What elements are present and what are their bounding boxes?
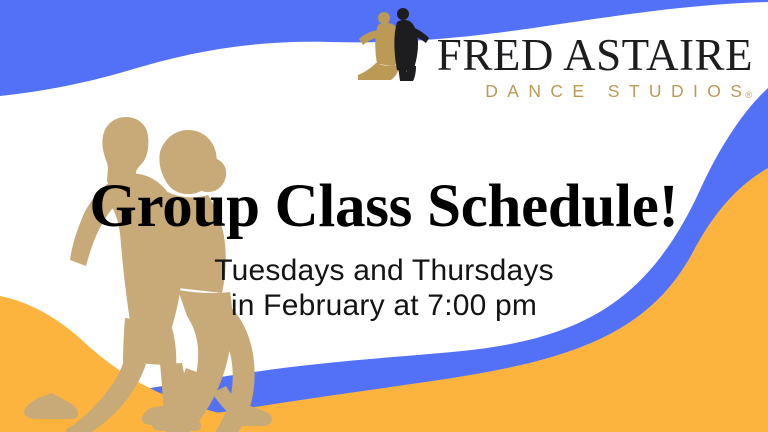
logo-primary-row: FRED ASTAIRE <box>357 12 753 78</box>
page-title: Group Class Schedule! <box>0 176 768 238</box>
flyer-canvas: FRED ASTAIRE DANCE STUDIOS ® Group Class… <box>0 0 768 432</box>
ballroom-dancing-couple-icon <box>357 3 431 81</box>
fred-astaire-logo: FRED ASTAIRE DANCE STUDIOS ® <box>393 12 753 104</box>
schedule-month-time: in February at 7:00 pm <box>0 288 768 323</box>
schedule-details: Tuesdays and Thursdays in February at 7:… <box>0 253 768 323</box>
logo-tagline-row: DANCE STUDIOS ® <box>392 81 753 102</box>
registered-mark-icon: ® <box>745 90 752 100</box>
schedule-days: Tuesdays and Thursdays <box>0 253 768 288</box>
logo-tagline: DANCE STUDIOS <box>485 81 751 102</box>
logo-wordmark: FRED ASTAIRE <box>437 32 753 78</box>
